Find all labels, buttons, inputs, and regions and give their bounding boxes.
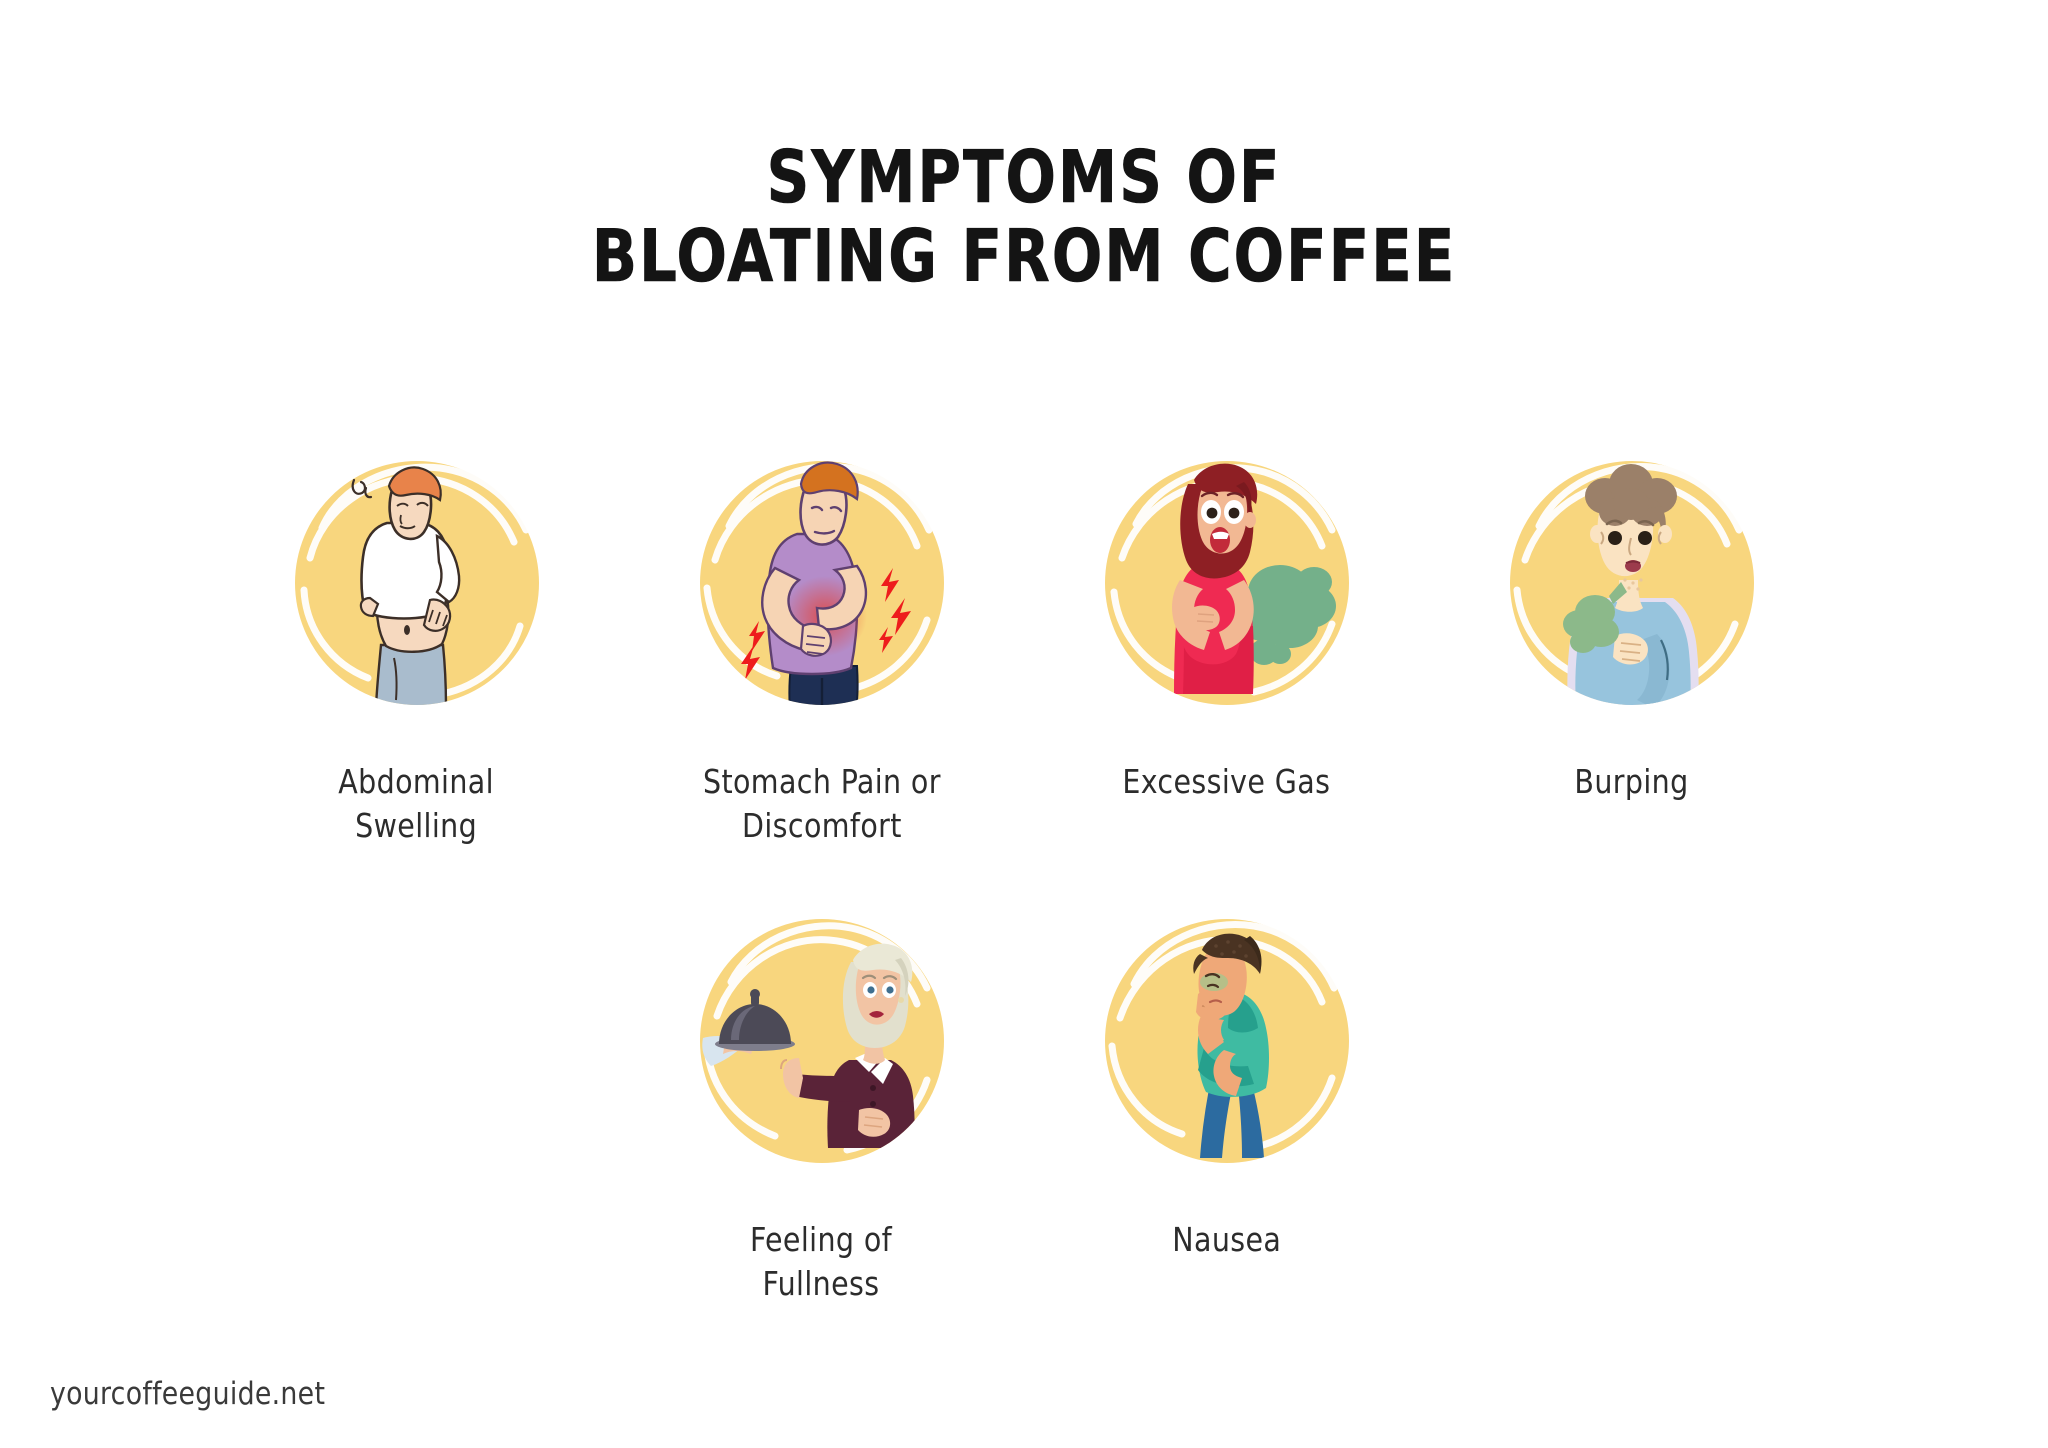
badge-feeling-of-fullness [679,898,965,1184]
page-title: SYMPTOMS OF BLOATING FROM COFFEE [0,138,2048,296]
badge-excessive-gas [1084,440,1370,726]
badge-abdominal-swelling [274,440,560,726]
symptom-label-nausea: Nausea [1172,1218,1281,1262]
badge-nausea [1084,898,1370,1184]
symptom-card-excessive-gas[interactable]: Excessive Gas [1024,440,1429,848]
symptom-card-feeling-of-fullness[interactable]: Feeling of Fullness [619,898,1024,1306]
symptom-label-stomach-pain: Stomach Pain or Discomfort [703,760,941,848]
symptom-label-burping: Burping [1574,760,1688,804]
symptom-label-abdominal-swelling: Abdominal Swelling [339,760,495,848]
symptom-card-nausea[interactable]: Nausea [1024,898,1429,1306]
badge-burping [1489,440,1775,726]
page-title-line-1: SYMPTOMS OF [82,138,1966,217]
symptom-label-excessive-gas: Excessive Gas [1123,760,1331,804]
symptom-row-top: Abdominal Swelling [0,440,2048,848]
badge-stomach-pain [679,440,965,726]
symptom-row-bottom: Feeling of Fullness [0,898,2048,1306]
symptom-label-feeling-of-fullness: Feeling of Fullness [750,1218,892,1306]
symptom-card-stomach-pain[interactable]: Stomach Pain or Discomfort [619,440,1024,848]
symptom-card-abdominal-swelling[interactable]: Abdominal Swelling [214,440,619,848]
symptom-card-burping[interactable]: Burping [1429,440,1834,848]
page-title-line-2: BLOATING FROM COFFEE [82,217,1966,296]
site-watermark: yourcoffeeguide.net [50,1376,325,1412]
